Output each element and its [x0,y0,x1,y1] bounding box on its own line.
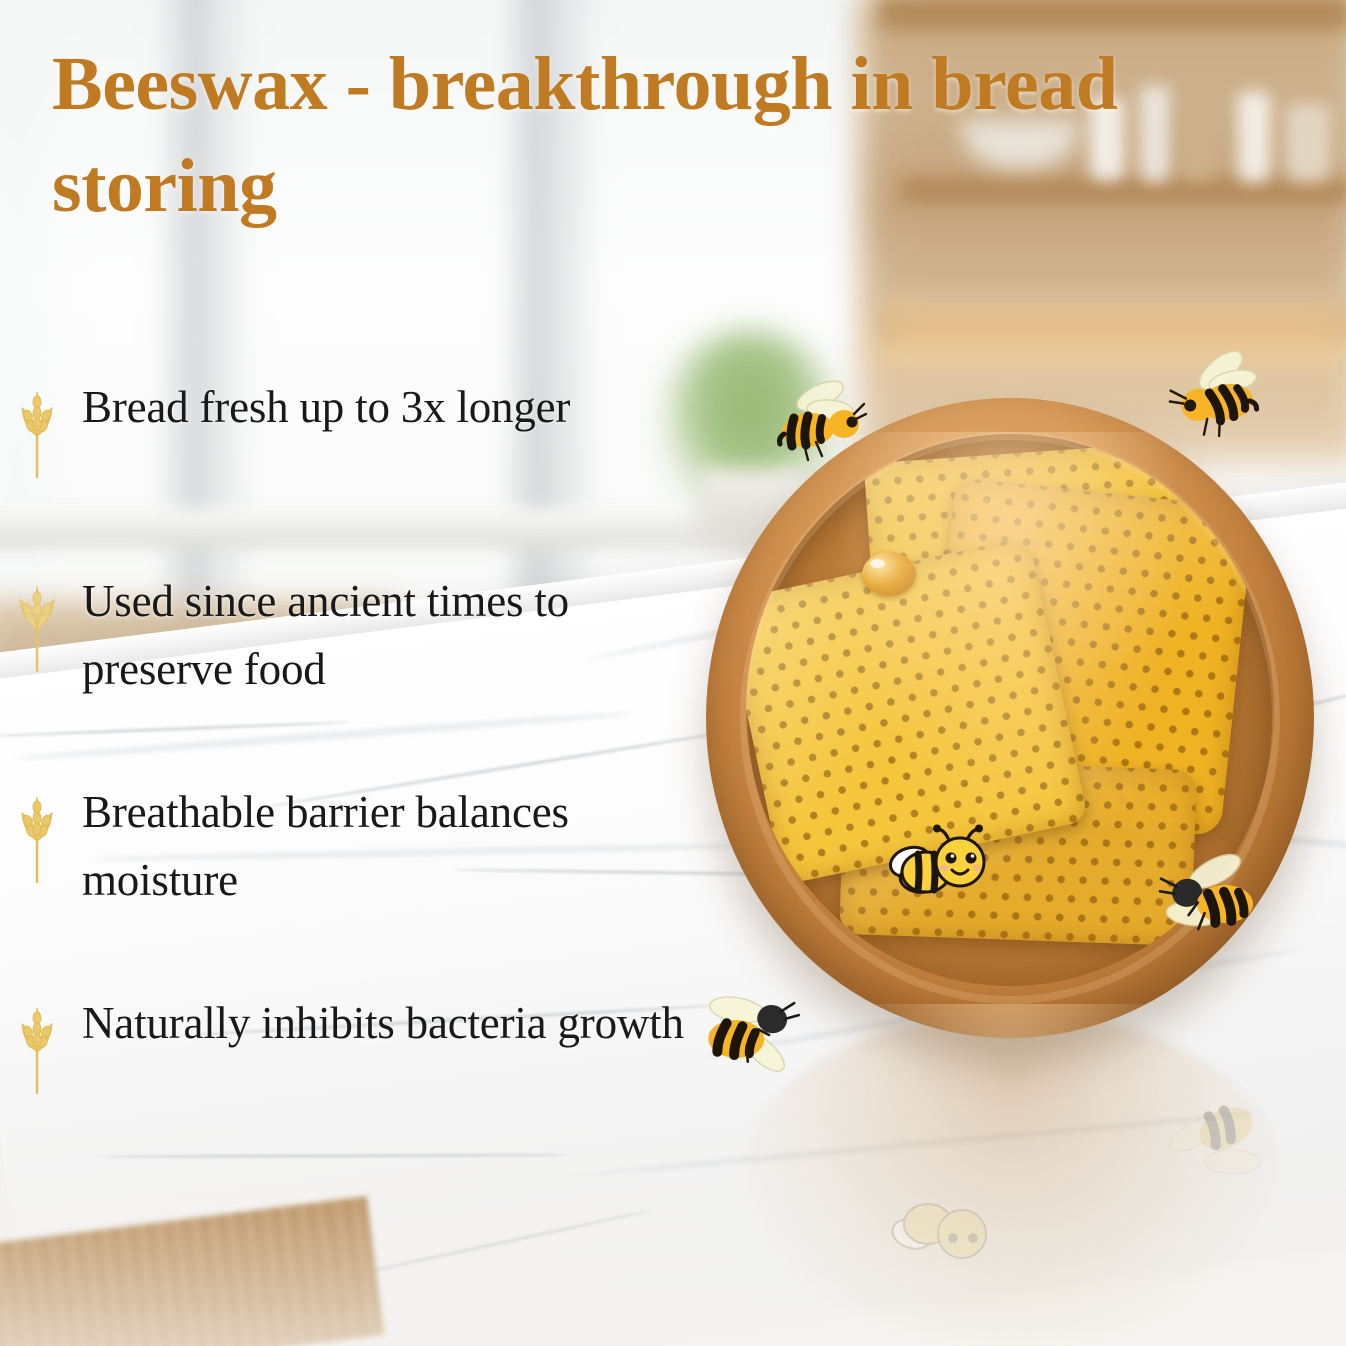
cartoon-bee-icon [884,828,992,914]
shelf-jar [1238,92,1270,182]
list-item: Breathable barrier balances moisture [0,777,700,914]
shelf-jar [1180,100,1216,180]
shelf-jar [1286,104,1330,182]
feature-list: Bread fresh up to 3x longer [0,372,700,1182]
list-item: Naturally inhibits bacteria growth [0,988,700,1108]
list-item-label: Naturally inhibits bacteria growth [82,988,684,1058]
bee-icon [1164,352,1276,448]
list-item-label: Used since ancient times to preserve foo… [82,566,700,703]
beeswax-promo-poster: Beeswax - breakthrough in bread storing [0,0,1346,1346]
wheat-icon [6,580,82,672]
page-title: Beeswax - breakthrough in bread storing [52,34,1162,238]
under-cabinet-light [880,318,1346,388]
wheat-icon [6,791,82,883]
cartoon-bee-reflection-icon [886,1182,994,1268]
list-item: Bread fresh up to 3x longer [0,372,700,492]
shelf-board-top [880,0,1346,28]
list-item-label: Breathable barrier balances moisture [82,777,700,914]
wheat-icon [6,1002,82,1094]
list-item: Used since ancient times to preserve foo… [0,566,700,703]
list-item-label: Bread fresh up to 3x longer [82,372,570,442]
wheat-icon [6,386,82,478]
